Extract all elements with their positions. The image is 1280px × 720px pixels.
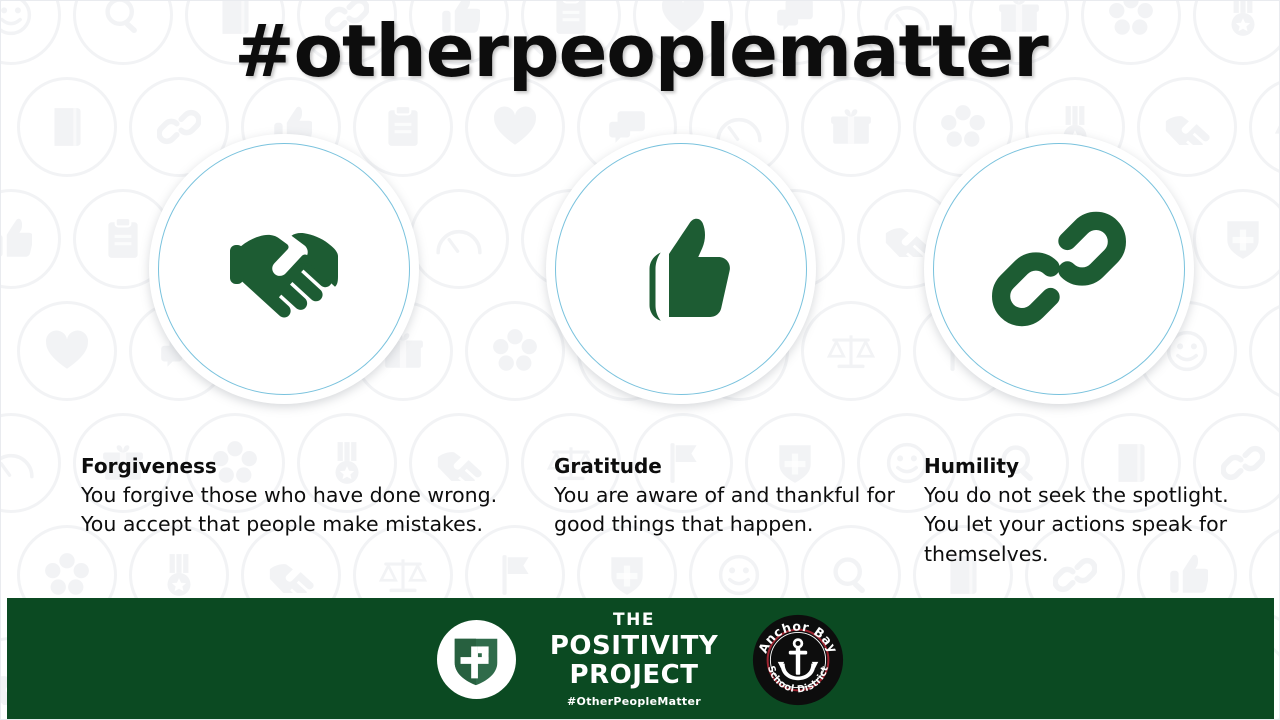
strength-description-line: themselves.: [924, 540, 1254, 569]
brand-project: PROJECT: [550, 661, 718, 689]
thumbs-up-icon: [606, 194, 756, 344]
icon-circle-wrap-humility: [924, 134, 1194, 404]
strength-description-line: You do not seek the spotlight.: [924, 481, 1254, 510]
chain-link-icon: [989, 199, 1129, 339]
anchor-bay-school-district-seal: Anchor Bay School District: [752, 614, 844, 706]
strength-term: Forgiveness: [81, 453, 501, 480]
strength-description-line: You are aware of and thankful for: [554, 481, 914, 510]
page-title: #otherpeoplematter: [1, 9, 1280, 93]
icon-circle-wrap-forgiveness: [149, 134, 419, 404]
strength-text-humility: Humility You do not seek the spotlight. …: [924, 453, 1254, 569]
brand-positivity: POSITIVITY: [550, 632, 718, 660]
handshake-icon: [209, 194, 359, 344]
brand-tagline: #OtherPeopleMatter: [550, 696, 718, 707]
slide-canvas: #otherpeoplematter: [0, 0, 1280, 720]
positivity-project-wordmark: THE POSITIVITY PROJECT #OtherPeopleMatte…: [550, 612, 718, 706]
icon-circle-forgiveness: [149, 134, 419, 404]
strength-description-line: You let your actions speak for: [924, 510, 1254, 539]
icon-circle-gratitude: [546, 134, 816, 404]
positivity-project-shield-logo: [437, 620, 516, 699]
strength-term: Gratitude: [554, 453, 914, 480]
icon-circle-wrap-gratitude: [546, 134, 816, 404]
strength-text-forgiveness: Forgiveness You forgive those who have d…: [81, 453, 501, 540]
brand-the: THE: [550, 612, 718, 629]
strength-description-line: You accept that people make mistakes.: [81, 510, 501, 539]
strength-description-line: You forgive those who have done wrong.: [81, 481, 501, 510]
strength-text-gratitude: Gratitude You are aware of and thankful …: [554, 453, 914, 540]
strength-description-line: good things that happen.: [554, 510, 914, 539]
strength-term: Humility: [924, 453, 1254, 480]
footer-bar: THE POSITIVITY PROJECT #OtherPeopleMatte…: [7, 598, 1274, 720]
icon-circle-humility: [924, 134, 1194, 404]
